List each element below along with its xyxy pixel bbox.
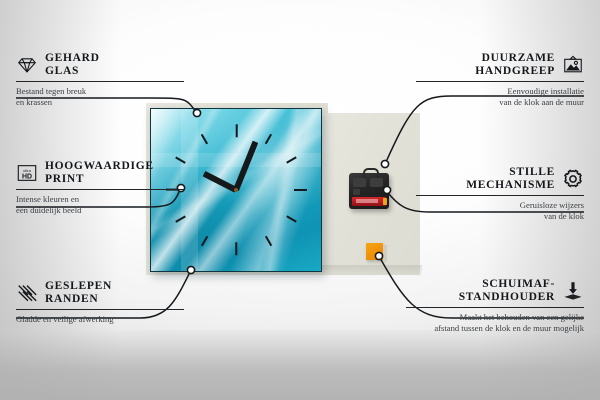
- feature-header: DUURZAME HANDGREEP: [416, 52, 584, 78]
- svg-text:HD: HD: [22, 173, 32, 180]
- feature-divider: [16, 189, 184, 190]
- feature-description: Gladde en veilige afwerking: [16, 314, 184, 325]
- connector-dot-randen: [187, 266, 194, 273]
- feature-description-line: Intense kleuren en: [16, 194, 184, 205]
- feature-divider: [416, 195, 584, 196]
- feature-description: Intense kleuren en een duidelijk beeld: [16, 194, 184, 215]
- feature-description: Geruisloze wijzers van de klok: [416, 200, 584, 221]
- feature-divider: [406, 307, 584, 308]
- feature-title: RANDEN: [45, 293, 112, 306]
- feature-title: MECHANISME: [466, 179, 555, 192]
- feature-title: PRINT: [45, 173, 154, 186]
- feature-description-line: een duidelijk beeld: [16, 205, 184, 216]
- feature-title: STANDHOUDER: [459, 291, 555, 304]
- picture-frame-icon: [562, 54, 584, 76]
- feature-duurzame-handgreep: DUURZAME HANDGREEP Eenvoudige installati…: [416, 52, 584, 107]
- connector-dot-handgreep: [381, 160, 388, 167]
- feature-description-line: Maakt het behouden van een gelijke: [406, 312, 584, 323]
- feature-description-line: Gladde en veilige afwerking: [16, 314, 184, 325]
- feature-divider: [16, 309, 184, 310]
- feature-title: HOOGWAARDIGE: [45, 160, 154, 173]
- feature-title: GEHARD: [45, 52, 100, 65]
- feature-header: GESLEPEN RANDEN: [16, 280, 184, 306]
- feature-description-line: van de klok aan de muur: [416, 97, 584, 108]
- feature-gehard-glas: GEHARD GLAS Bestand tegen breuk en krass…: [16, 52, 184, 107]
- feature-title: GESLEPEN: [45, 280, 112, 293]
- feature-geslepen-randen: GESLEPEN RANDEN Gladde en veilige afwerk…: [16, 280, 184, 325]
- connector-dot-mechanisme: [383, 186, 390, 193]
- infographic-canvas: GEHARD GLAS Bestand tegen breuk en krass…: [0, 0, 600, 400]
- feature-stille-mechanisme: STILLE MECHANISME Geruisloze wijzers van…: [416, 166, 584, 221]
- beveled-edges-icon: [16, 282, 38, 304]
- feature-header: STILLE MECHANISME: [416, 166, 584, 192]
- feature-description-line: Eenvoudige installatie: [416, 86, 584, 97]
- feature-title: DUURZAME: [475, 52, 555, 65]
- feature-description-line: en krassen: [16, 97, 184, 108]
- ultra-hd-icon: ultra HD: [16, 162, 38, 184]
- feature-description-line: Geruisloze wijzers: [416, 200, 584, 211]
- feature-title: HANDGREEP: [475, 65, 555, 78]
- feature-title: SCHUIMAF-: [459, 278, 555, 291]
- feature-divider: [416, 81, 584, 82]
- connector-dot-schuim: [375, 252, 382, 259]
- connector-dot-gehard-glas: [193, 109, 200, 116]
- feature-title: GLAS: [45, 65, 100, 78]
- feature-hoogwaardige-print: ultra HD HOOGWAARDIGE PRINT Intense kleu…: [16, 160, 184, 215]
- feature-title: STILLE: [466, 166, 555, 179]
- feature-description-line: Bestand tegen breuk: [16, 86, 184, 97]
- feature-description: Eenvoudige installatie van de klok aan d…: [416, 86, 584, 107]
- feature-header: GEHARD GLAS: [16, 52, 184, 78]
- feature-description: Maakt het behouden van een gelijke afsta…: [406, 312, 584, 333]
- feature-description: Bestand tegen breuk en krassen: [16, 86, 184, 107]
- down-arrow-plate-icon: [562, 280, 584, 302]
- diamond-icon: [16, 54, 38, 76]
- gear-icon: [562, 168, 584, 190]
- feature-divider: [16, 81, 184, 82]
- feature-schuimafstandhouder: SCHUIMAF- STANDHOUDER Maakt het behouden…: [406, 278, 584, 333]
- feature-description-line: afstand tussen de klok en de muur mogeli…: [406, 323, 584, 334]
- svg-text:ultra: ultra: [23, 168, 32, 173]
- feature-header: ultra HD HOOGWAARDIGE PRINT: [16, 160, 184, 186]
- feature-description-line: van de klok: [416, 211, 584, 222]
- feature-header: SCHUIMAF- STANDHOUDER: [406, 278, 584, 304]
